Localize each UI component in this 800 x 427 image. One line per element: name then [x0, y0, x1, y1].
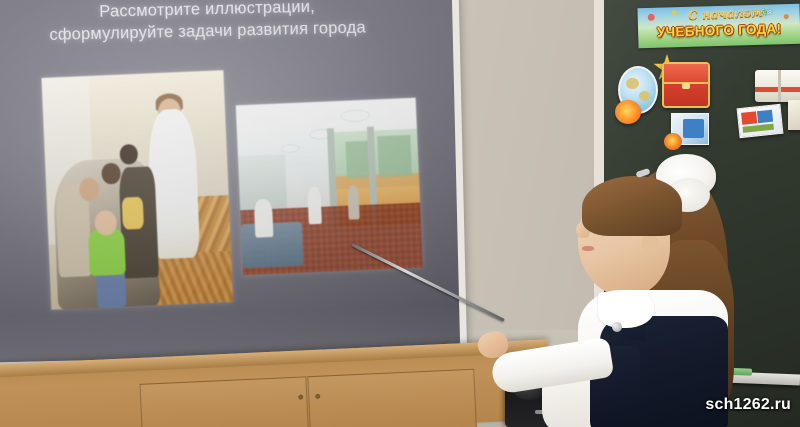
slide-photo-new-clinic [236, 98, 423, 276]
lips [582, 246, 594, 251]
flower-icon [664, 133, 682, 150]
cabinet-door [307, 369, 477, 427]
hair-front [582, 176, 682, 236]
schoolgirl [470, 150, 760, 427]
banner-line-2: УЧЕБНОГО ГОДА! [640, 21, 798, 40]
postcard-icon [737, 104, 784, 138]
postcard-block [741, 111, 756, 125]
satchel-flap [664, 64, 708, 84]
paper-cutout [788, 100, 800, 130]
globe-landmass [626, 78, 639, 89]
photo2-seated-person [254, 199, 274, 237]
slide-photo-old-clinic [41, 70, 233, 310]
book-spine [778, 70, 781, 102]
photo2-visitor [347, 185, 359, 219]
postcard-block [757, 110, 772, 124]
slide-title: Рассмотрите иллюстрации, сформулируйте з… [0, 0, 433, 48]
postcard-image [683, 119, 704, 138]
classroom-photo: Рассмотрите иллюстрации, сформулируйте з… [0, 0, 800, 427]
postcard-block [743, 124, 774, 133]
blouse-collar [598, 292, 654, 328]
photo-head-mid [102, 163, 121, 185]
new-school-year-banner: С началом 1 сентября УЧЕБНОГО ГОДА! [637, 4, 800, 49]
book-icon [755, 70, 800, 102]
flower-icon [615, 100, 641, 124]
photo2-green-panel [378, 135, 412, 177]
site-watermark: sch1262.ru [705, 396, 791, 414]
photo-child-yellow [121, 197, 144, 230]
satchel-lock [682, 83, 689, 89]
brooch [612, 322, 622, 332]
photo2-standing-doctor [308, 187, 322, 225]
satchel-icon [662, 62, 710, 108]
globe-landmass [639, 91, 650, 102]
projection-screen: Рассмотрите иллюстрации, сформулируйте з… [0, 0, 460, 362]
cabinet-door [139, 376, 309, 427]
